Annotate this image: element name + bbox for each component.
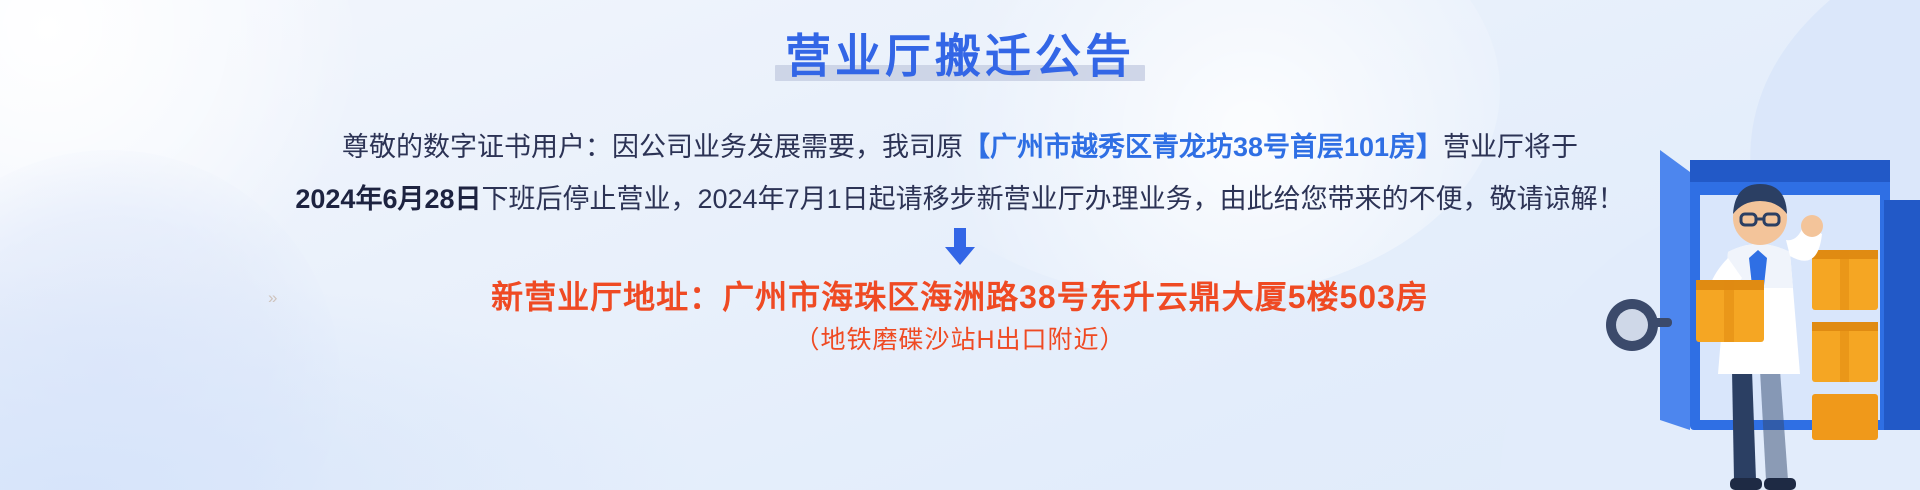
arrow-down-icon xyxy=(940,228,980,271)
line1-prefix: 尊敬的数字证书用户：因公司业务发展需要，我司原 xyxy=(342,132,963,162)
page-title: 营业厅搬迁公告 xyxy=(775,30,1145,83)
delivery-truck-and-courier-illustration xyxy=(1360,0,1920,490)
page-title-text: 营业厅搬迁公告 xyxy=(785,30,1135,82)
close-date-highlight: 2024年6月28日 xyxy=(295,184,481,214)
announcement-banner: 营业厅搬迁公告 尊敬的数字证书用户：因公司业务发展需要，我司原【广州市越秀区青龙… xyxy=(0,0,1920,490)
